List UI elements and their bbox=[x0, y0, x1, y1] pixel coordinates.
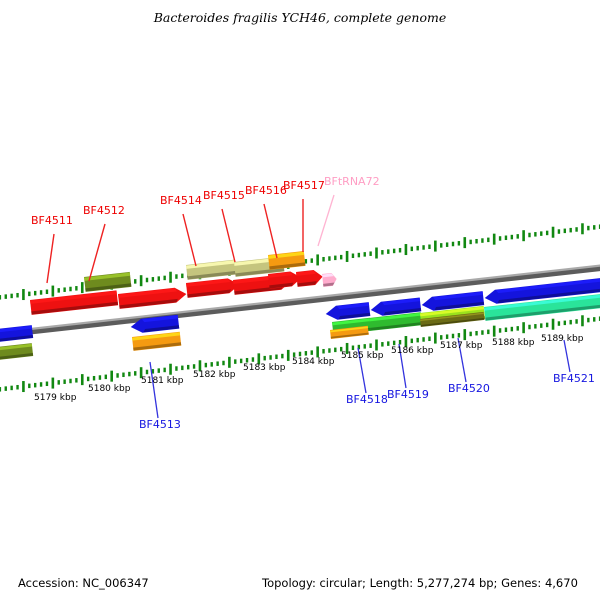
ruler-minor-tick bbox=[40, 382, 42, 387]
gene-label-bf4518[interactable]: BF4518 bbox=[346, 393, 388, 406]
ruler-minor-tick bbox=[558, 321, 560, 326]
gene-label-leader bbox=[89, 224, 105, 281]
ruler-minor-tick bbox=[5, 386, 7, 391]
ruler-minor-tick bbox=[475, 239, 477, 244]
genome-viewer: Bacteroides fragilis YCH46, complete gen… bbox=[0, 0, 600, 600]
ruler-minor-tick bbox=[305, 351, 307, 356]
coordinate-tick-label: 5186 kbp bbox=[391, 346, 434, 356]
ruler-minor-tick bbox=[275, 355, 277, 360]
ruler-minor-tick bbox=[569, 228, 571, 233]
coordinate-tick-label: 5184 kbp bbox=[292, 357, 335, 367]
ruler-major-tick bbox=[375, 340, 378, 351]
ruler-minor-tick bbox=[311, 350, 313, 355]
ruler-minor-tick bbox=[393, 341, 395, 346]
ruler-minor-tick bbox=[440, 335, 442, 340]
gene-feature[interactable] bbox=[186, 277, 240, 298]
gene-feature[interactable] bbox=[268, 251, 305, 270]
ruler-minor-tick bbox=[416, 338, 418, 343]
ruler-minor-tick bbox=[46, 382, 48, 387]
ruler-major-tick bbox=[287, 350, 290, 361]
ruler-minor-tick bbox=[399, 340, 401, 345]
ruler-major-tick bbox=[493, 234, 496, 245]
coordinate-tick-label: 5179 kbp bbox=[34, 393, 77, 403]
ruler-minor-tick bbox=[63, 287, 65, 292]
ruler-major-tick bbox=[110, 371, 113, 382]
ruler-minor-tick bbox=[269, 355, 271, 360]
gene-label-bf4512[interactable]: BF4512 bbox=[83, 204, 125, 217]
ruler-minor-tick bbox=[240, 359, 242, 364]
ruler-minor-tick bbox=[10, 294, 12, 299]
ruler-major-tick bbox=[434, 241, 437, 252]
ruler-minor-tick bbox=[69, 287, 71, 292]
ruler-minor-tick bbox=[393, 249, 395, 254]
page-title: Bacteroides fragilis YCH46, complete gen… bbox=[153, 10, 447, 25]
gene-label-bf4516[interactable]: BF4516 bbox=[245, 184, 287, 197]
ruler-minor-tick bbox=[58, 380, 60, 385]
gene-feature[interactable] bbox=[369, 312, 422, 331]
ruler-minor-tick bbox=[499, 328, 501, 333]
ruler-minor-tick bbox=[163, 276, 165, 281]
ruler-minor-tick bbox=[63, 379, 65, 384]
gene-label-bf4515[interactable]: BF4515 bbox=[203, 189, 245, 202]
ruler-minor-tick bbox=[428, 245, 430, 250]
ruler-minor-tick bbox=[205, 363, 207, 368]
gene-label-leader bbox=[183, 214, 196, 266]
ruler-minor-tick bbox=[99, 375, 101, 380]
ruler-minor-tick bbox=[322, 349, 324, 354]
ruler-major-tick bbox=[22, 381, 25, 392]
ruler-major-tick bbox=[581, 315, 584, 326]
ruler-minor-tick bbox=[128, 372, 130, 377]
gene-feature[interactable] bbox=[118, 286, 187, 308]
ruler-minor-tick bbox=[146, 278, 148, 283]
ruler-minor-tick bbox=[334, 348, 336, 353]
ruler-minor-tick bbox=[40, 290, 42, 295]
ruler-minor-tick bbox=[411, 339, 413, 344]
ruler-major-tick bbox=[552, 319, 555, 330]
gene-label-bf4511[interactable]: BF4511 bbox=[31, 214, 73, 227]
ruler-major-tick bbox=[228, 357, 231, 368]
gene-feature[interactable] bbox=[325, 302, 370, 321]
ruler-minor-tick bbox=[534, 232, 536, 237]
ruler-minor-tick bbox=[440, 243, 442, 248]
ruler-major-tick bbox=[22, 289, 25, 300]
gene-label-bf4521[interactable]: BF4521 bbox=[553, 372, 595, 385]
ruler-minor-tick bbox=[246, 358, 248, 363]
ruler-major-tick bbox=[346, 251, 349, 262]
gene-label-bf4513[interactable]: BF4513 bbox=[139, 418, 181, 431]
ruler-minor-tick bbox=[69, 379, 71, 384]
ruler-minor-tick bbox=[75, 378, 77, 383]
coordinate-tick-label: 5185 kbp bbox=[341, 351, 384, 361]
ruler-minor-tick bbox=[211, 362, 213, 367]
ruler-major-tick bbox=[522, 322, 525, 333]
ruler-minor-tick bbox=[481, 238, 483, 243]
gene-label-bf4514[interactable]: BF4514 bbox=[160, 194, 202, 207]
ruler-minor-tick bbox=[116, 373, 118, 378]
ruler-minor-tick bbox=[5, 294, 7, 299]
ruler-major-tick bbox=[434, 333, 437, 344]
ruler-minor-tick bbox=[469, 240, 471, 245]
ruler-minor-tick bbox=[416, 246, 418, 251]
ruler-minor-tick bbox=[564, 321, 566, 326]
ruler-minor-tick bbox=[458, 333, 460, 338]
gene-feature[interactable] bbox=[132, 332, 181, 351]
ruler-minor-tick bbox=[569, 320, 571, 325]
ruler-minor-tick bbox=[181, 274, 183, 279]
ruler-minor-tick bbox=[469, 332, 471, 337]
coordinate-tick-labels: 5179 kbp5180 kbp5181 kbp5182 kbp5183 kbp… bbox=[34, 334, 584, 403]
ruler-major-tick bbox=[375, 248, 378, 259]
ruler-minor-tick bbox=[146, 370, 148, 375]
ruler-minor-tick bbox=[387, 341, 389, 346]
ruler-minor-tick bbox=[399, 248, 401, 253]
ruler-minor-tick bbox=[458, 241, 460, 246]
ruler-minor-tick bbox=[105, 375, 107, 380]
ruler-minor-tick bbox=[187, 365, 189, 370]
ruler-minor-tick bbox=[216, 361, 218, 366]
ruler-minor-tick bbox=[546, 323, 548, 328]
ruler-minor-tick bbox=[540, 323, 542, 328]
ruler-major-tick bbox=[463, 237, 466, 248]
ruler-minor-tick bbox=[281, 354, 283, 359]
ruler-minor-tick bbox=[587, 318, 589, 323]
ruler-minor-tick bbox=[411, 247, 413, 252]
ruler-minor-tick bbox=[134, 279, 136, 284]
ruler-minor-tick bbox=[222, 361, 224, 366]
ruler-minor-tick bbox=[487, 330, 489, 335]
ruler-minor-tick bbox=[352, 346, 354, 351]
ruler-minor-tick bbox=[540, 231, 542, 236]
ruler-minor-tick bbox=[505, 236, 507, 241]
ruler-minor-tick bbox=[452, 334, 454, 339]
gene-feature[interactable] bbox=[0, 343, 33, 361]
ruler-major-tick bbox=[522, 230, 525, 241]
ruler-major-tick bbox=[581, 223, 584, 234]
ruler-major-tick bbox=[316, 346, 319, 357]
gene-label-bf4517[interactable]: BF4517 bbox=[283, 179, 325, 192]
ruler-minor-tick bbox=[487, 238, 489, 243]
ruler-minor-tick bbox=[422, 245, 424, 250]
ruler-major-tick bbox=[169, 364, 172, 375]
ruler-minor-tick bbox=[158, 368, 160, 373]
ruler-minor-tick bbox=[152, 277, 154, 282]
ruler-minor-tick bbox=[511, 235, 513, 240]
ruler-minor-tick bbox=[575, 319, 577, 324]
ruler-minor-tick bbox=[446, 242, 448, 247]
ruler-minor-tick bbox=[369, 251, 371, 256]
ruler-minor-tick bbox=[517, 234, 519, 239]
ruler-minor-tick bbox=[322, 257, 324, 262]
ruler-major-tick bbox=[81, 374, 84, 385]
ruler-minor-tick bbox=[0, 295, 1, 300]
ruler-minor-tick bbox=[75, 286, 77, 291]
ruler-minor-tick bbox=[0, 387, 1, 392]
ruler-minor-tick bbox=[593, 317, 595, 322]
gene-label-leader bbox=[222, 209, 235, 262]
gene-label-leader bbox=[47, 234, 54, 283]
ruler-minor-tick bbox=[352, 254, 354, 259]
ruler-minor-tick bbox=[481, 330, 483, 335]
gene-label-bf4520[interactable]: BF4520 bbox=[448, 382, 490, 395]
ruler-minor-tick bbox=[564, 229, 566, 234]
ruler-minor-tick bbox=[34, 291, 36, 296]
ruler-minor-tick bbox=[505, 328, 507, 333]
gene-label-leader bbox=[318, 195, 334, 246]
ruler-minor-tick bbox=[175, 366, 177, 371]
ruler-major-tick bbox=[493, 326, 496, 337]
ruler-minor-tick bbox=[10, 386, 12, 391]
ruler-minor-tick bbox=[511, 327, 513, 332]
ruler-minor-tick bbox=[46, 290, 48, 295]
ruler-minor-tick bbox=[528, 325, 530, 330]
ruler-minor-tick bbox=[87, 377, 89, 382]
gene-feature[interactable] bbox=[0, 325, 33, 343]
ruler-minor-tick bbox=[328, 256, 330, 261]
coordinate-tick-label: 5181 kbp bbox=[141, 376, 184, 386]
ruler-major-tick bbox=[52, 286, 55, 297]
ruler-minor-tick bbox=[499, 236, 501, 241]
ruler-minor-tick bbox=[364, 252, 366, 257]
gene-feature[interactable] bbox=[186, 260, 236, 280]
ruler-minor-tick bbox=[158, 276, 160, 281]
gene-label-bf4519[interactable]: BF4519 bbox=[387, 388, 429, 401]
ruler-minor-tick bbox=[381, 250, 383, 255]
ruler-minor-tick bbox=[334, 256, 336, 261]
ruler-minor-tick bbox=[252, 357, 254, 362]
coordinate-tick-label: 5180 kbp bbox=[88, 384, 131, 394]
ruler-minor-tick bbox=[340, 255, 342, 260]
ruler-minor-tick bbox=[34, 383, 36, 388]
ruler-minor-tick bbox=[134, 371, 136, 376]
ruler-minor-tick bbox=[93, 376, 95, 381]
gene-label-leader bbox=[564, 340, 570, 372]
ruler-minor-tick bbox=[299, 352, 301, 357]
ruler-minor-tick bbox=[58, 288, 60, 293]
ruler-minor-tick bbox=[428, 337, 430, 342]
ruler-minor-tick bbox=[328, 348, 330, 353]
ruler-minor-tick bbox=[546, 231, 548, 236]
ruler-minor-tick bbox=[558, 229, 560, 234]
ruler-minor-tick bbox=[28, 292, 30, 297]
ruler-major-tick bbox=[463, 329, 466, 340]
coordinate-tick-label: 5188 kbp bbox=[492, 338, 535, 348]
gene-feature[interactable] bbox=[322, 272, 337, 286]
ruler-minor-tick bbox=[587, 226, 589, 231]
ruler-minor-tick bbox=[16, 385, 18, 390]
ruler-minor-tick bbox=[387, 249, 389, 254]
ruler-minor-tick bbox=[175, 274, 177, 279]
ruler-minor-tick bbox=[234, 359, 236, 364]
ruler-minor-tick bbox=[28, 384, 30, 389]
coordinate-tick-label: 5182 kbp bbox=[193, 370, 236, 380]
ruler-minor-tick bbox=[475, 331, 477, 336]
coordinate-tick-label: 5183 kbp bbox=[243, 363, 286, 373]
ruler-major-tick bbox=[140, 275, 143, 286]
ruler-major-tick bbox=[52, 378, 55, 389]
coordinate-tick-label: 5187 kbp bbox=[440, 341, 483, 351]
genome-map-canvas[interactable]: Bacteroides fragilis YCH46, complete gen… bbox=[0, 0, 600, 600]
ruler-major-tick bbox=[405, 244, 408, 255]
ruler-minor-tick bbox=[446, 334, 448, 339]
ruler-minor-tick bbox=[422, 337, 424, 342]
ruler-minor-tick bbox=[575, 227, 577, 232]
ruler-minor-tick bbox=[311, 258, 313, 263]
ruler-minor-tick bbox=[163, 368, 165, 373]
ruler-minor-tick bbox=[534, 324, 536, 329]
coordinate-tick-label: 5189 kbp bbox=[541, 334, 584, 344]
ruler-minor-tick bbox=[381, 342, 383, 347]
ruler-minor-tick bbox=[369, 343, 371, 348]
ruler-major-tick bbox=[316, 254, 319, 265]
ruler-minor-tick bbox=[452, 242, 454, 247]
ruler-minor-tick bbox=[193, 364, 195, 369]
gene-label-bftrna72[interactable]: BFtRNA72 bbox=[324, 175, 380, 188]
ruler-minor-tick bbox=[122, 373, 124, 378]
ruler-major-tick bbox=[169, 272, 172, 283]
ruler-major-tick bbox=[81, 282, 84, 293]
gene-feature[interactable] bbox=[296, 269, 323, 287]
ruler-minor-tick bbox=[358, 253, 360, 257]
ruler-minor-tick bbox=[593, 225, 595, 230]
genome-summary-text: Topology: circular; Length: 5,277,274 bp… bbox=[261, 576, 578, 590]
ruler-minor-tick bbox=[517, 326, 519, 331]
ruler-minor-tick bbox=[181, 366, 183, 371]
gene-feature[interactable] bbox=[30, 290, 118, 315]
ruler-major-tick bbox=[552, 227, 555, 238]
gene-label-leader bbox=[264, 204, 277, 258]
ruler-minor-tick bbox=[364, 344, 366, 349]
ruler-minor-tick bbox=[16, 293, 18, 298]
ruler-minor-tick bbox=[528, 233, 530, 238]
accession-text: Accession: NC_006347 bbox=[18, 576, 149, 590]
ruler-minor-tick bbox=[263, 356, 265, 361]
